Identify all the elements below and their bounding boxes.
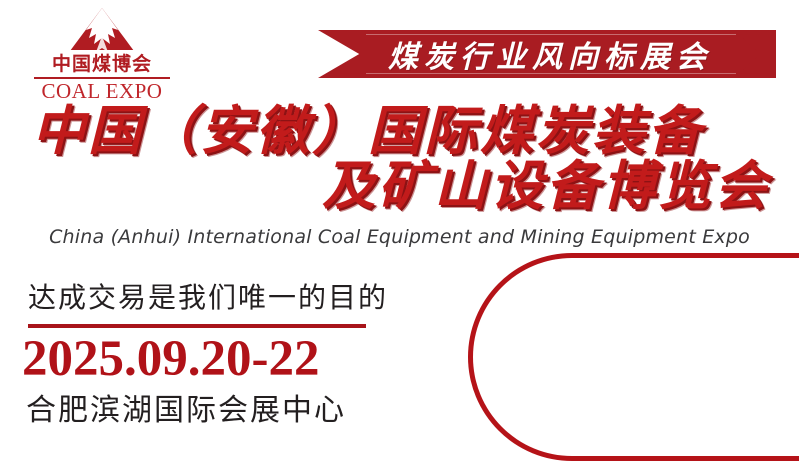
title-line-1: 中国（安徽）国际煤炭装备 [20, 104, 780, 159]
expo-poster: 中国煤博会 COAL EXPO 煤炭行业风向标展会 中国（安徽）国际煤炭装备 及… [0, 0, 799, 464]
coal-expo-logo: 中国煤博会 COAL EXPO [22, 6, 182, 106]
ribbon-text: 煤炭行业风向标展会 [318, 30, 776, 78]
logo-chinese-name: 中国煤博会 [22, 53, 182, 75]
slogan-text: 达成交易是我们唯一的目的 [28, 276, 388, 316]
audience-photo [468, 253, 799, 461]
tagline-ribbon-banner: 煤炭行业风向标展会 [318, 30, 776, 78]
event-dates: 2025.09.20-22 [22, 330, 319, 388]
red-divider-rule [28, 324, 366, 328]
english-subtitle: China (Anhui) International Coal Equipme… [0, 226, 799, 248]
event-venue: 合肥滨湖国际会展中心 [26, 385, 346, 429]
page-title: 中国（安徽）国际煤炭装备 及矿山设备博览会 [20, 104, 780, 214]
title-line-2: 及矿山设备博览会 [20, 159, 780, 214]
photo-red-frame [468, 253, 799, 461]
